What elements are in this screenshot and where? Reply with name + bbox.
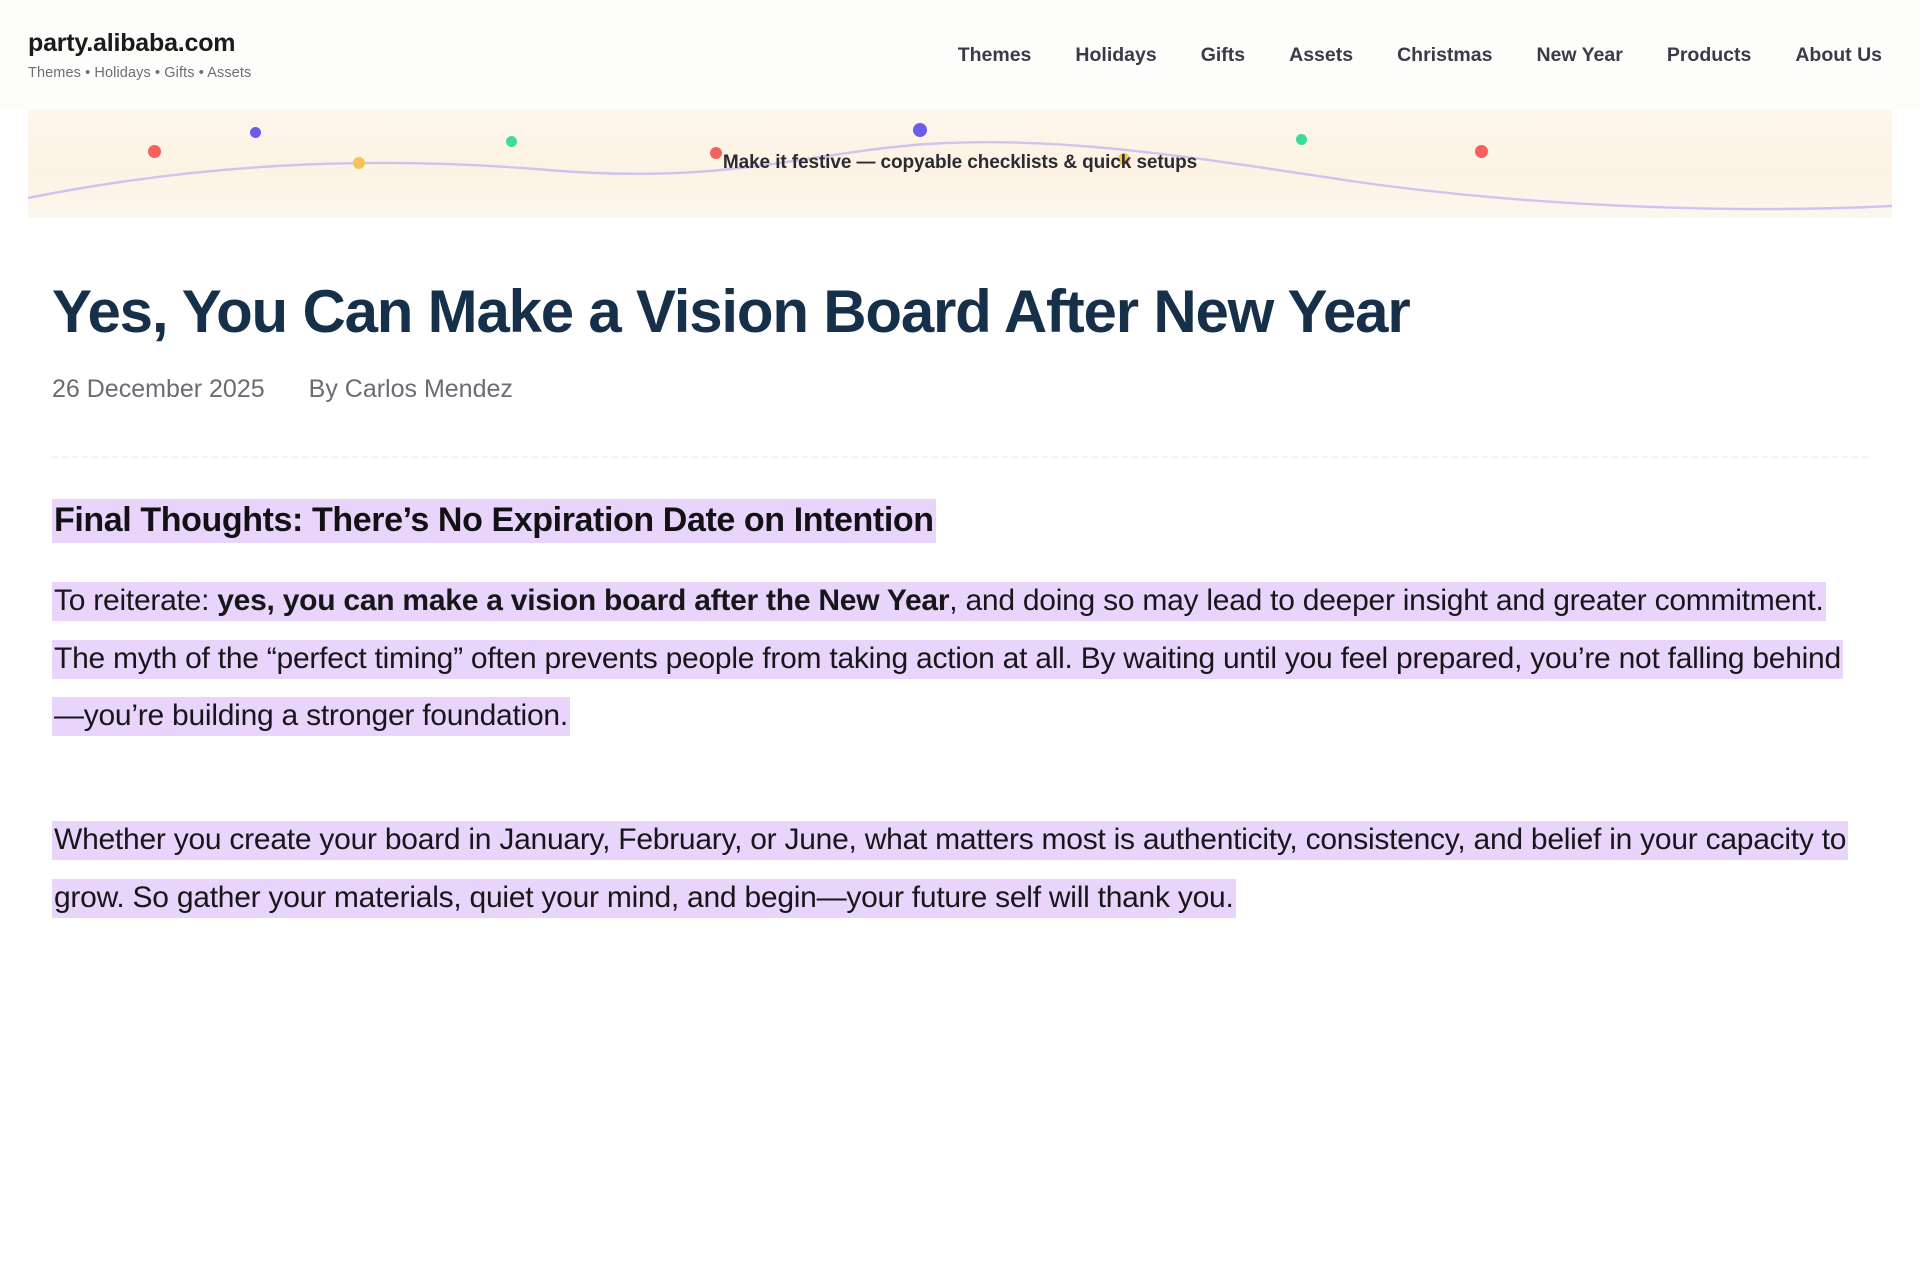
section-heading: Final Thoughts: There’s No Expiration Da… [52,458,1868,544]
section-heading-text: Final Thoughts: There’s No Expiration Da… [52,499,936,543]
paragraph-1-bold: yes, you can make a vision board after t… [217,584,949,617]
brand-block[interactable]: party.alibaba.com Themes • Holidays • Gi… [28,0,251,81]
article-meta: 26 December 2025 By Carlos Mendez [52,375,1868,404]
confetti-dot-4 [506,136,517,147]
paragraph-1: To reiterate: yes, you can make a vision… [52,572,1868,746]
banner-tagline: Make it festive — copyable checklists & … [28,152,1892,174]
confetti-dot-8 [1296,134,1307,145]
paragraph-2-highlight: Whether you create your board in January… [52,821,1848,918]
article-date: 26 December 2025 [52,375,265,404]
paragraph-1-highlight: To reiterate: yes, you can make a vision… [52,582,1843,737]
nav-item-holidays[interactable]: Holidays [1075,44,1156,67]
site-header: party.alibaba.com Themes • Holidays • Gi… [0,0,1920,110]
article-body: Yes, You Can Make a Vision Board After N… [0,218,1920,927]
paragraph-2: Whether you create your board in January… [52,811,1868,927]
nav-item-new-year[interactable]: New Year [1536,44,1622,67]
festive-banner: Make it festive — copyable checklists & … [28,110,1892,218]
paragraph-1-lead: To reiterate: [54,584,217,617]
article-byline: By Carlos Mendez [309,375,513,404]
main-navigation: Themes Holidays Gifts Assets Christmas N… [958,0,1892,67]
nav-item-gifts[interactable]: Gifts [1201,44,1245,67]
site-brand-tagline: Themes • Holidays • Gifts • Assets [28,65,251,81]
nav-item-assets[interactable]: Assets [1289,44,1353,67]
site-brand-name[interactable]: party.alibaba.com [28,30,251,58]
nav-item-products[interactable]: Products [1667,44,1752,67]
nav-item-about-us[interactable]: About Us [1795,44,1882,67]
confetti-dot-2 [250,127,261,138]
nav-item-christmas[interactable]: Christmas [1397,44,1492,67]
page-title: Yes, You Can Make a Vision Board After N… [52,218,1868,345]
confetti-dot-6 [913,123,927,137]
nav-item-themes[interactable]: Themes [958,44,1032,67]
